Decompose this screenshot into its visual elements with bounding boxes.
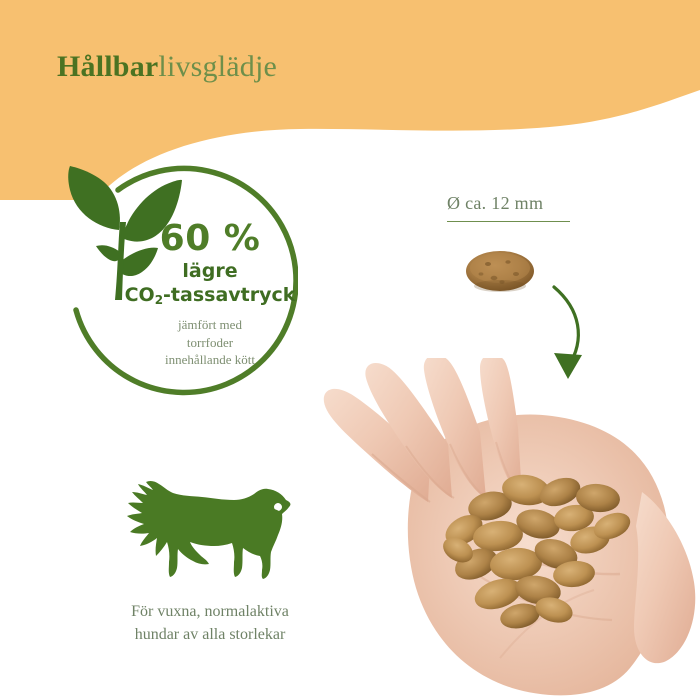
page-title: Hållbarlivsglädje bbox=[57, 52, 277, 82]
co2-footprint-suffix: -tassavtryck bbox=[163, 284, 295, 306]
co2-note-line-1: jämfört med bbox=[124, 316, 296, 334]
promo-infographic-page: Hållbarlivsglädje 60 % lägre CO2-tassavt… bbox=[0, 0, 700, 700]
dog-caption-line-2: hundar av alla storlekar bbox=[60, 623, 360, 646]
co2-footprint-prefix: CO bbox=[125, 284, 155, 306]
curved-arrow-icon bbox=[524, 283, 608, 391]
kibble-size-label: Ø ca. 12 mm bbox=[447, 193, 570, 214]
hand-holding-kibble-photo bbox=[312, 358, 700, 700]
co2-footprint-subscript: 2 bbox=[155, 293, 163, 307]
co2-note: jämfört med torrfoder innehållande kött bbox=[124, 316, 296, 369]
co2-footprint-label: CO2-tassavtryck bbox=[124, 284, 296, 307]
co2-note-line-2: torrfoder bbox=[124, 334, 296, 352]
co2-percent: 60 % bbox=[124, 220, 296, 258]
kibble-size-callout: Ø ca. 12 mm bbox=[447, 193, 570, 222]
co2-lower-label: lägre bbox=[124, 260, 296, 284]
co2-badge: 60 % lägre CO2-tassavtryck jämfört med t… bbox=[58, 162, 298, 400]
kibble-size-rule bbox=[447, 221, 570, 222]
dog-caption: För vuxna, normalaktiva hundar av alla s… bbox=[60, 600, 360, 646]
badge-text-block: 60 % lägre CO2-tassavtryck jämfört med t… bbox=[124, 220, 296, 369]
title-bold-word: Hållbar bbox=[57, 50, 158, 83]
co2-note-line-3: innehållande kött bbox=[124, 351, 296, 369]
running-dog-icon bbox=[110, 472, 294, 584]
title-light-word: livsglädje bbox=[158, 50, 277, 83]
dog-caption-line-1: För vuxna, normalaktiva bbox=[60, 600, 360, 623]
